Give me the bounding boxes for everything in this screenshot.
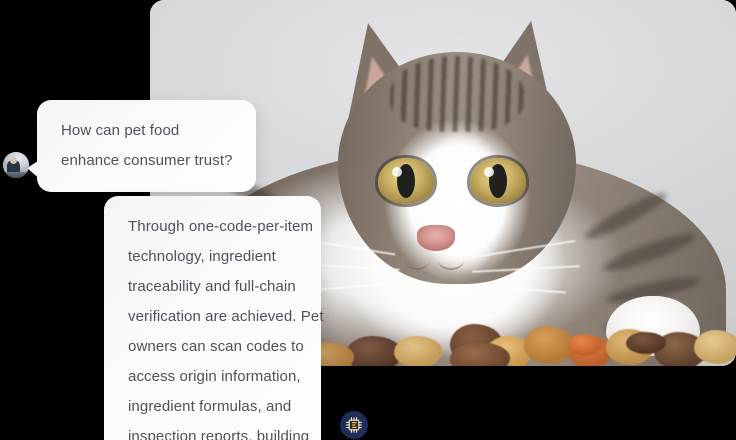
bot-avatar[interactable] [340, 411, 368, 439]
answer-line-5: owners can scan codes to [128, 332, 307, 362]
scene-root: How can pet food enhance consumer trust?… [0, 0, 736, 440]
answer-line-7: ingredient formulas, and [128, 392, 307, 422]
user-avatar[interactable] [3, 152, 29, 178]
bubble-tail [27, 159, 41, 180]
answer-line-1: Through one-code-per-item [128, 212, 307, 242]
answer-line-6: access origin information, [128, 362, 307, 392]
answer-line-8: inspection reports, building [128, 422, 307, 440]
desk-shape [3, 172, 29, 178]
question-line-1: How can pet food [61, 116, 236, 146]
question-line-2: enhance consumer trust? [61, 146, 236, 176]
chat-bubble-question[interactable]: How can pet food enhance consumer trust? [37, 100, 256, 192]
answer-line-2: technology, ingredient [128, 242, 307, 272]
chat-bubble-answer[interactable]: Through one-code-per-item technology, in… [104, 196, 321, 440]
microchip-icon [344, 415, 364, 435]
answer-line-4: verification are achieved. Pet [128, 302, 307, 332]
person-head-icon [10, 157, 17, 164]
answer-line-3: traceability and full-chain [128, 272, 307, 302]
